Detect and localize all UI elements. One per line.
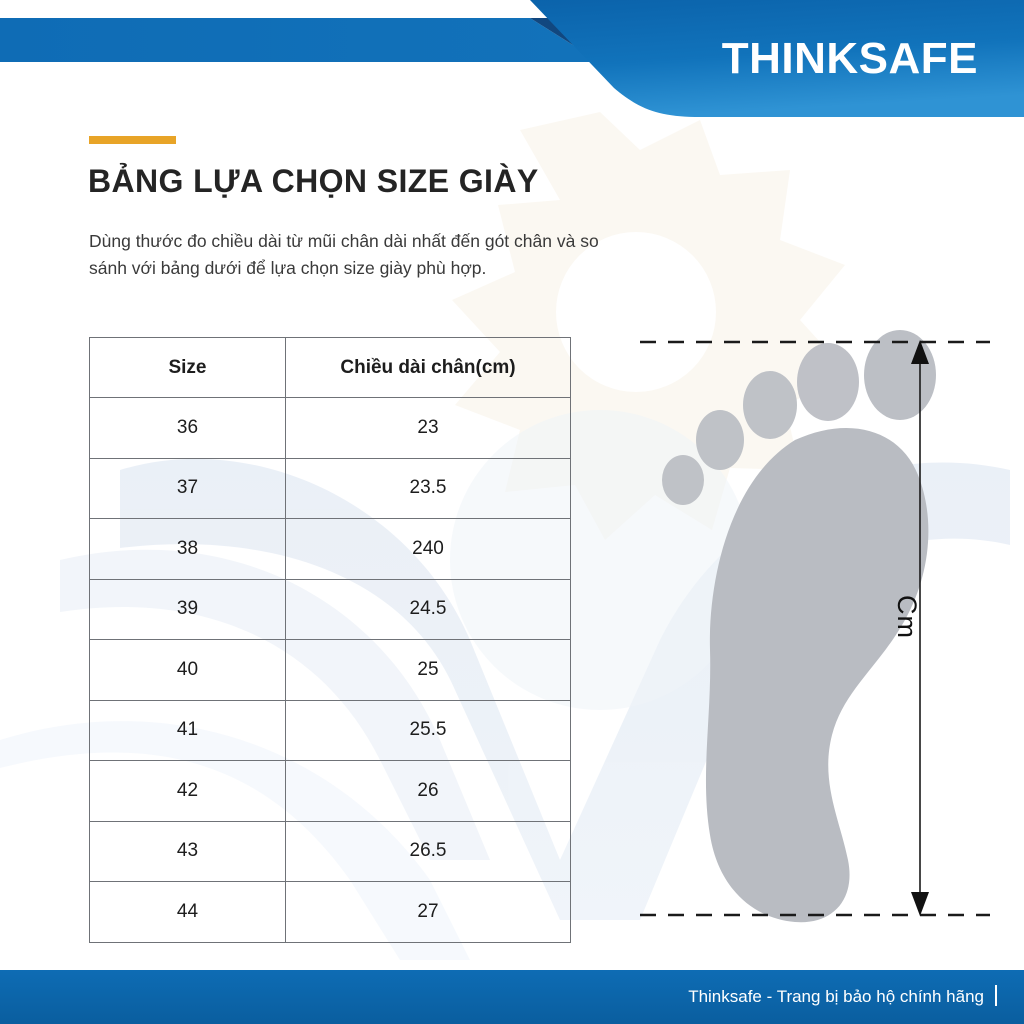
table-row: 42 26: [90, 761, 571, 822]
cell-length: 23: [286, 398, 571, 459]
cell-size: 42: [90, 761, 286, 822]
footer-text-wrapper: Thinksafe - Trang bị bảo hộ chính hãng: [688, 970, 997, 1024]
title-accent-bar: [89, 136, 176, 144]
header-banner: THINKSAFE: [0, 0, 1024, 130]
table-row: 40 25: [90, 640, 571, 701]
cell-length: 240: [286, 519, 571, 580]
cell-length: 24.5: [286, 579, 571, 640]
page-title: BẢNG LỰA CHỌN SIZE GIÀY: [88, 163, 539, 200]
text-cursor-icon: [995, 985, 997, 1006]
table-row: 41 25.5: [90, 700, 571, 761]
cell-length: 25: [286, 640, 571, 701]
dimension-unit-label: Cm: [891, 595, 922, 639]
cell-size: 39: [90, 579, 286, 640]
cell-size: 43: [90, 821, 286, 882]
cell-size: 36: [90, 398, 286, 459]
cell-size: 38: [90, 519, 286, 580]
column-header-length: Chiều dài chân(cm): [286, 338, 571, 398]
footer-label: Thinksafe - Trang bị bảo hộ chính hãng: [688, 987, 984, 1006]
cell-size: 41: [90, 700, 286, 761]
table-row: 44 27: [90, 882, 571, 943]
table-header-row: Size Chiều dài chân(cm): [90, 338, 571, 398]
table-row: 36 23: [90, 398, 571, 459]
cell-length: 26: [286, 761, 571, 822]
cell-length: 25.5: [286, 700, 571, 761]
cell-size: 37: [90, 458, 286, 519]
table-row: 37 23.5: [90, 458, 571, 519]
brand-logo: THINKSAFE: [722, 34, 978, 84]
cell-length: 26.5: [286, 821, 571, 882]
cell-length: 23.5: [286, 458, 571, 519]
cell-size: 40: [90, 640, 286, 701]
column-header-size: Size: [90, 338, 286, 398]
size-chart-page: THINKSAFE BẢNG LỰA CHỌN SIZE GIÀY Dùng t…: [0, 0, 1024, 1024]
main-content: BẢNG LỰA CHỌN SIZE GIÀY Dùng thước đo ch…: [0, 0, 1024, 1024]
table-row: 38 240: [90, 519, 571, 580]
cell-length: 27: [286, 882, 571, 943]
size-chart-table: Size Chiều dài chân(cm) 36 23 37 23.5 38…: [89, 337, 571, 943]
foot-measure-diagram: [600, 320, 1024, 940]
cell-size: 44: [90, 882, 286, 943]
instructions-text: Dùng thước đo chiều dài từ mũi chân dài …: [89, 228, 609, 282]
table-row: 39 24.5: [90, 579, 571, 640]
footer-bar: Thinksafe - Trang bị bảo hộ chính hãng: [0, 970, 1024, 1024]
table-row: 43 26.5: [90, 821, 571, 882]
